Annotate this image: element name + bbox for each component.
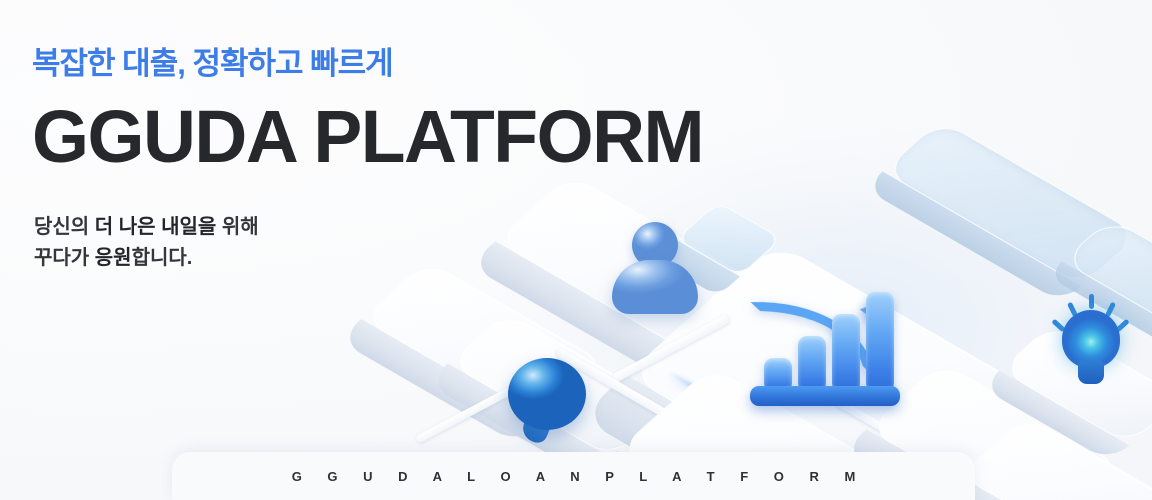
lightbulb-icon: [1054, 292, 1128, 388]
chart-bar-3: [832, 314, 860, 392]
subtitle-l1-a: 당신의: [34, 216, 95, 238]
subtitle-l1-c: 위해: [216, 216, 258, 238]
hero-subtitle-line-1: 당신의 더 나은 내일을 위해: [34, 216, 259, 238]
illustration-scene: [420, 150, 1152, 500]
speech-bubble-icon: [508, 358, 586, 442]
bottom-wordmark-bar: G G U D A L O A N P L A T F O R M: [172, 452, 975, 500]
chart-bar-2: [798, 336, 826, 392]
user-avatar-icon-shape: [612, 222, 698, 314]
chart-base: [750, 386, 900, 406]
bulb-base: [1078, 360, 1104, 384]
hero-subtitle-line-2: 꾸다가 응원합니다.: [34, 243, 259, 274]
bottom-wordmark-text: G G U D A L O A N P L A T F O R M: [281, 469, 867, 484]
hero-subtitle: 당신의 더 나은 내일을 위해 꾸다가 응원합니다.: [34, 212, 259, 274]
bar-chart-growth-icon: [750, 276, 900, 406]
subtitle-l2-c: 합니다.: [132, 247, 193, 269]
subtitle-l2-bold: 응원: [95, 247, 132, 269]
hero-eyebrow: 복잡한 대출, 정확하고 빠르게: [32, 38, 393, 83]
chart-bar-4: [866, 292, 894, 392]
bulb-ray-top: [1089, 294, 1094, 309]
subtitle-l1-bold: 더 나은 내일을: [95, 216, 217, 238]
hero-banner: 복잡한 대출, 정확하고 빠르게 GGUDA PLATFORM 당신의 더 나은…: [0, 0, 1152, 500]
subtitle-l2-a: 꾸다가: [34, 247, 95, 269]
page-title: GGUDA PLATFORM: [32, 100, 703, 174]
